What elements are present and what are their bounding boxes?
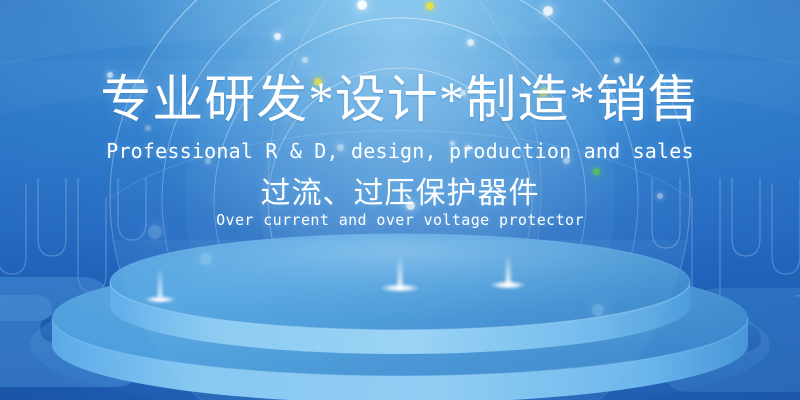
promo-banner: 专业研发*设计*制造*销售 Professional R & D, design… [0,0,800,400]
